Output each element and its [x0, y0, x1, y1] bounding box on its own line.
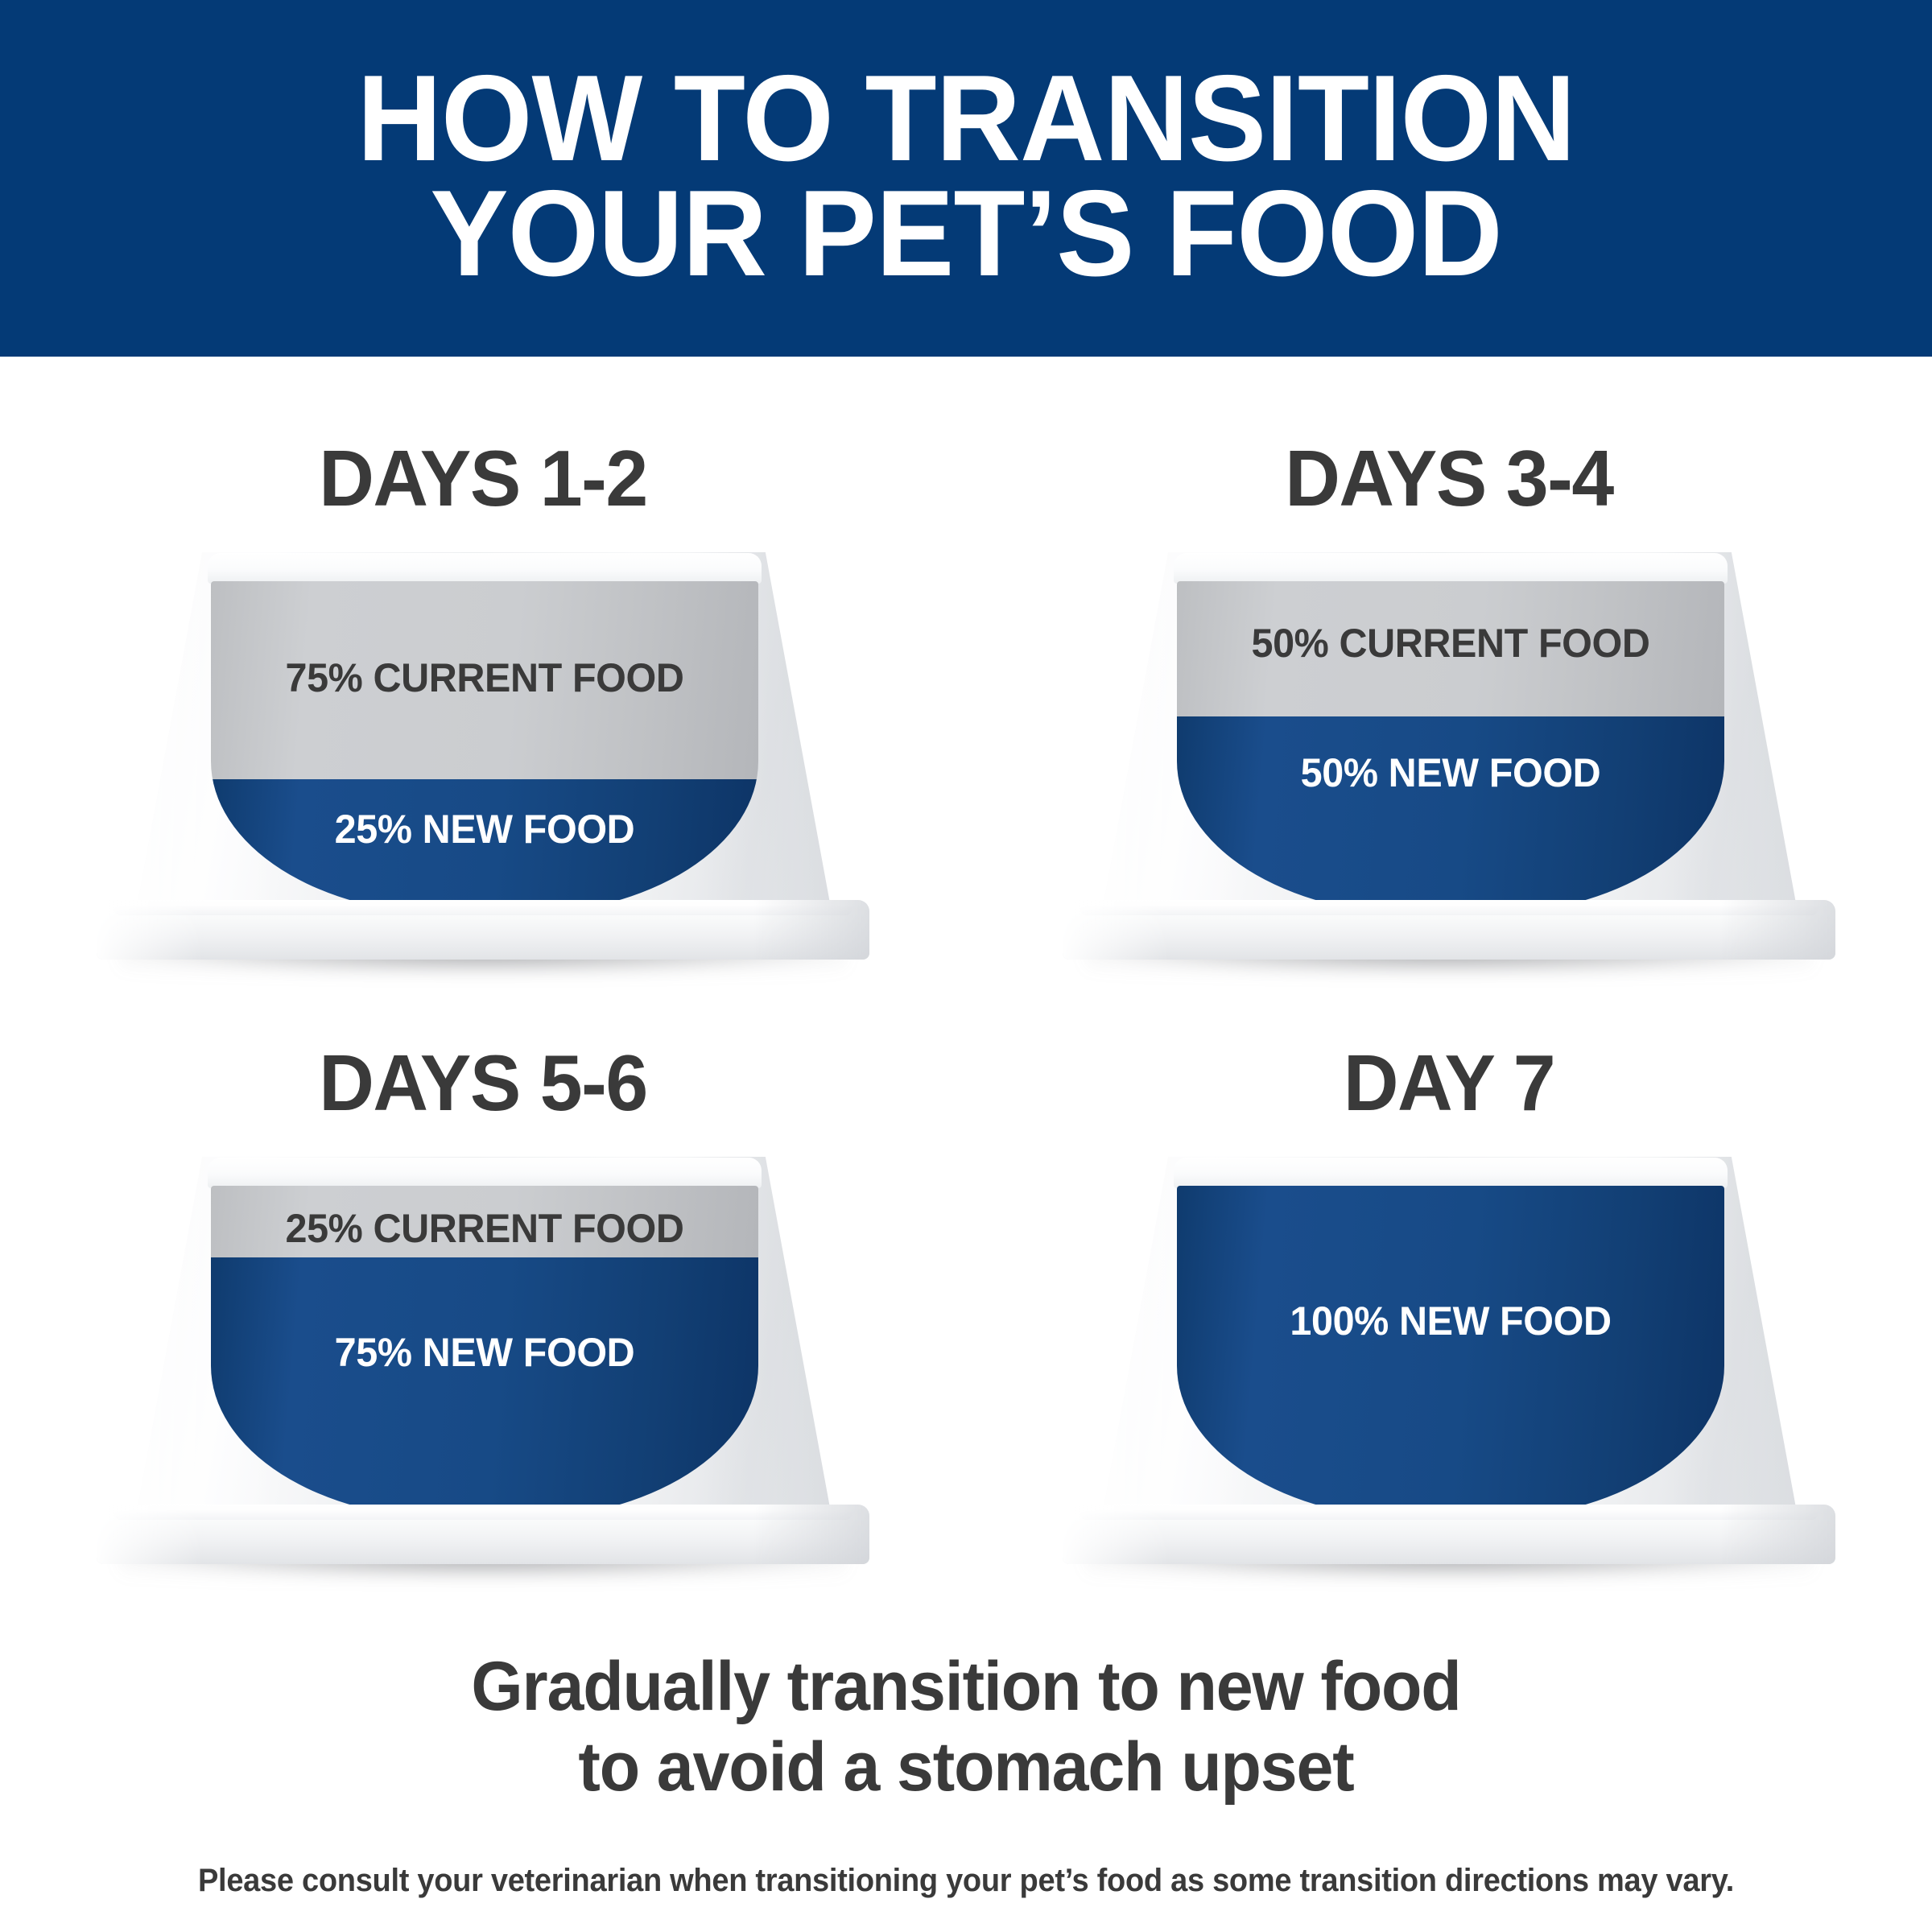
- header-banner: HOW TO TRANSITION YOUR PET’S FOOD: [0, 0, 1932, 357]
- step-1-day-label: DAYS 1-2: [14, 433, 952, 524]
- step-2-bowl: 50% CURRENT FOOD 50% NEW FOOD: [1063, 552, 1835, 963]
- step-1-bowl: 75% CURRENT FOOD 25% NEW FOOD: [97, 552, 869, 963]
- bowl-rim: [1174, 1158, 1728, 1188]
- step-3-current-food-label: 25% CURRENT FOOD: [219, 1205, 750, 1252]
- infographic-page: HOW TO TRANSITION YOUR PET’S FOOD DAYS 1…: [0, 0, 1932, 1932]
- bowl-base-lip: [1080, 904, 1818, 915]
- step-3-new-food-label: 75% NEW FOOD: [219, 1329, 750, 1376]
- bowl-rim: [208, 1158, 762, 1188]
- step-3-day-label: DAYS 5-6: [14, 1038, 952, 1129]
- step-4-bowl: 100% NEW FOOD: [1063, 1157, 1835, 1567]
- bowl-rim: [1174, 553, 1728, 584]
- page-title-line-2: YOUR PET’S FOOD: [430, 165, 1501, 302]
- step-4-day-label: DAY 7: [980, 1038, 1918, 1129]
- bowl-food-area: 75% CURRENT FOOD 25% NEW FOOD: [211, 581, 758, 914]
- bowl-food-area: 25% CURRENT FOOD 75% NEW FOOD: [211, 1186, 758, 1519]
- footer-headline-line-1: Gradually transition to new food: [471, 1648, 1460, 1725]
- bowl-base: [1063, 1505, 1835, 1564]
- bowl-food-area: 50% CURRENT FOOD 50% NEW FOOD: [1177, 581, 1724, 914]
- bowl-food-area: 100% NEW FOOD: [1177, 1186, 1724, 1519]
- bowl-base-lip: [114, 1509, 852, 1520]
- bowl-base: [97, 900, 869, 960]
- current-food-fill: 50% CURRENT FOOD: [1177, 581, 1724, 716]
- new-food-fill: 75% NEW FOOD: [211, 1257, 758, 1519]
- bowl-base-lip: [1080, 1509, 1818, 1520]
- transition-step-grid: DAYS 1-2 75% CURRENT FOOD 25% NEW FOOD: [0, 357, 1932, 1612]
- current-food-fill: 75% CURRENT FOOD: [211, 581, 758, 779]
- footer-disclaimer: Please consult your veterinarian when tr…: [48, 1863, 1884, 1899]
- transition-step-2: DAYS 3-4 50% CURRENT FOOD 50% NEW FOOD: [966, 357, 1932, 985]
- footer-headline-line-2: to avoid a stomach upset: [578, 1728, 1353, 1806]
- transition-step-3: DAYS 5-6 25% CURRENT FOOD 75% NEW FOOD: [0, 961, 966, 1589]
- bowl-base-lip: [114, 904, 852, 915]
- footer-headline: Gradually transition to new food to avoi…: [39, 1647, 1893, 1808]
- step-1-current-food-label: 75% CURRENT FOOD: [219, 654, 750, 701]
- footer: Gradually transition to new food to avoi…: [0, 1647, 1932, 1899]
- step-4-new-food-label: 100% NEW FOOD: [1185, 1298, 1716, 1344]
- bowl-rim: [208, 553, 762, 584]
- transition-step-4: DAY 7 100% NEW FOOD: [966, 961, 1932, 1589]
- step-3-bowl: 25% CURRENT FOOD 75% NEW FOOD: [97, 1157, 869, 1567]
- page-title: HOW TO TRANSITION YOUR PET’S FOOD: [357, 61, 1575, 296]
- current-food-fill: 25% CURRENT FOOD: [211, 1186, 758, 1257]
- step-2-current-food-label: 50% CURRENT FOOD: [1185, 620, 1716, 667]
- bowl-base: [1063, 900, 1835, 960]
- bowl-base: [97, 1505, 869, 1564]
- transition-step-1: DAYS 1-2 75% CURRENT FOOD 25% NEW FOOD: [0, 357, 966, 985]
- new-food-fill: 100% NEW FOOD: [1177, 1186, 1724, 1519]
- step-2-new-food-label: 50% NEW FOOD: [1185, 749, 1716, 796]
- step-2-day-label: DAYS 3-4: [980, 433, 1918, 524]
- step-1-new-food-label: 25% NEW FOOD: [219, 806, 750, 852]
